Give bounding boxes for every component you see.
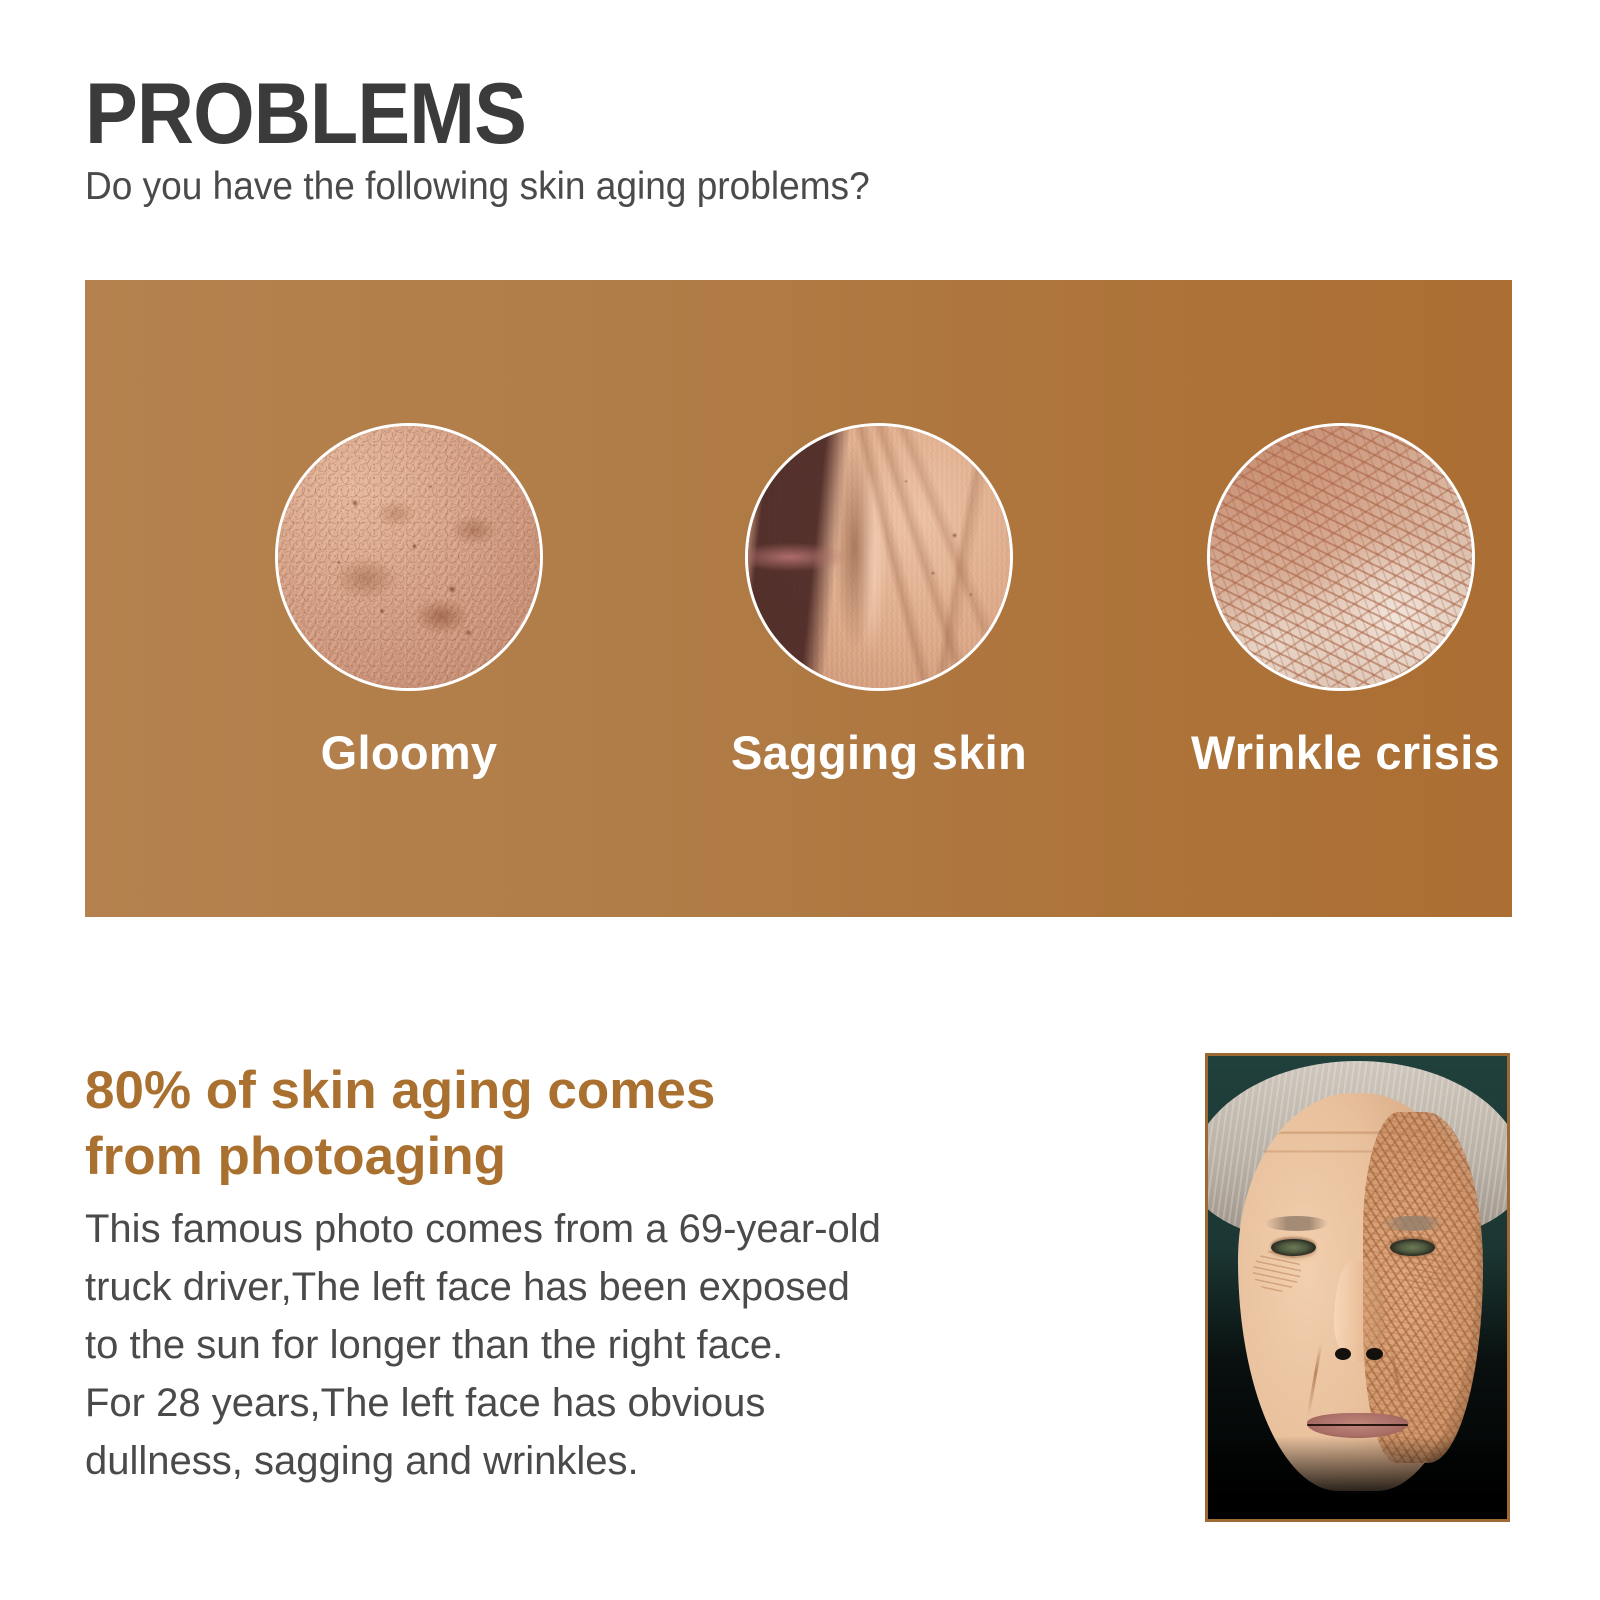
problem-image-wrinkle-crisis (1207, 423, 1475, 691)
page-title: PROBLEMS (85, 72, 1401, 156)
page-subtitle: Do you have the following skin aging pro… (85, 166, 1444, 209)
nostril-right (1366, 1348, 1382, 1360)
forehead-creases (1262, 1121, 1453, 1177)
dull-pigmented-skin-closeup (275, 423, 543, 691)
eye-left (1271, 1239, 1316, 1256)
photo-bottom-shadow (1208, 1436, 1507, 1519)
eye-right (1390, 1239, 1435, 1256)
sagging-mouth-corner-closeup (745, 423, 1013, 691)
problem-image-sagging-skin (745, 423, 1013, 691)
header-block: PROBLEMS Do you have the following skin … (85, 72, 1515, 209)
problem-label-sagging-skin: Sagging skin (729, 725, 1029, 780)
mouth-line (1307, 1424, 1409, 1426)
face-photo-canvas (1208, 1056, 1507, 1519)
problem-label-gloomy: Gloomy (259, 725, 559, 780)
problem-label-wrinkle-crisis: Wrinkle crisis (1191, 725, 1491, 780)
nose (1334, 1260, 1385, 1362)
problem-card-sagging-skin: Sagging skin (729, 423, 1029, 780)
problem-banner: Gloomy Sagging skin Wrinkle crisis (85, 280, 1512, 917)
photoaging-headline: 80% of skin aging comes from photoaging (85, 1058, 845, 1191)
eyebrow-left (1265, 1216, 1328, 1231)
problem-image-gloomy (275, 423, 543, 691)
truck-driver-sun-damage-face-photo (1205, 1053, 1510, 1522)
photoaging-body-text: This famous photo comes from a 69-year-o… (85, 1200, 1075, 1490)
problem-card-wrinkle-crisis: Wrinkle crisis (1191, 423, 1491, 780)
eyebrow-right (1381, 1216, 1444, 1231)
problem-card-gloomy: Gloomy (259, 423, 559, 780)
crows-feet-left (1253, 1250, 1301, 1292)
crows-feet-right (1405, 1250, 1453, 1292)
nostril-left (1335, 1348, 1351, 1360)
deep-wrinkled-skin-closeup (1207, 423, 1475, 691)
